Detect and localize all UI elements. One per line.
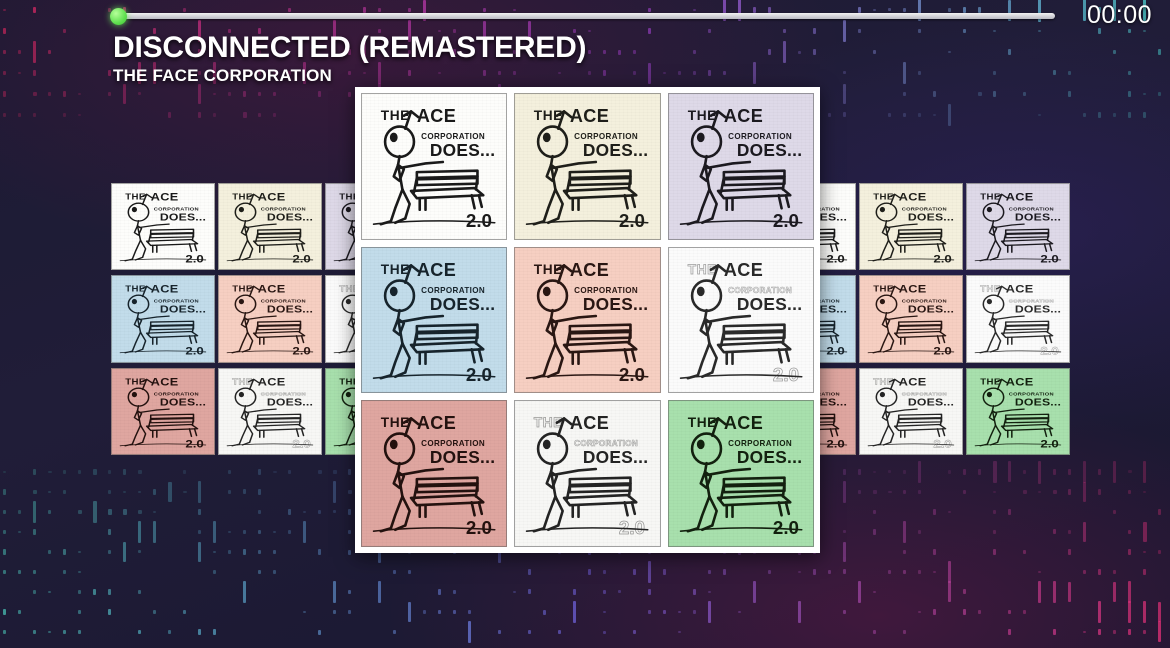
album-cover-lavender[interactable]: THE ACE CORPORATION DOES... 2.0 (668, 93, 814, 240)
album-cover-dusty-rose[interactable]: THE ACE CORPORATION DOES... 2.0 (361, 400, 507, 547)
svg-text:CORPORATION: CORPORATION (154, 391, 199, 396)
svg-text:ACE: ACE (151, 376, 179, 388)
svg-text:ACE: ACE (899, 192, 927, 204)
svg-text:DOES...: DOES... (160, 305, 206, 316)
album-cover-white[interactable]: THE ACE CORPORATION DOES... 2.0 (361, 93, 507, 240)
svg-text:DOES...: DOES... (583, 140, 649, 160)
svg-text:DOES...: DOES... (267, 305, 313, 316)
svg-text:ACE: ACE (417, 260, 456, 280)
svg-text:DOES...: DOES... (1015, 213, 1061, 224)
svg-text:DOES...: DOES... (267, 213, 313, 224)
svg-text:ACE: ACE (258, 284, 286, 296)
svg-text:CORPORATION: CORPORATION (261, 299, 306, 304)
svg-text:ACE: ACE (724, 106, 763, 126)
album-cover-cream[interactable]: THE ACE CORPORATION DOES... 2.0 (218, 183, 322, 270)
svg-text:DOES...: DOES... (160, 213, 206, 224)
album-cover-light-blue[interactable]: THE ACE CORPORATION DOES... 2.0 (111, 275, 215, 362)
svg-text:CORPORATION: CORPORATION (1009, 299, 1054, 304)
svg-text:DOES...: DOES... (583, 294, 649, 314)
svg-text:DOES...: DOES... (736, 294, 802, 314)
featured-album-panel[interactable]: THE ACE CORPORATION DOES... 2.0 (355, 87, 820, 553)
svg-text:DOES...: DOES... (430, 448, 496, 468)
song-title: DISCONNECTED (REMASTERED) (113, 30, 586, 65)
album-cover-white[interactable]: THE ACE CORPORATION DOES... 2.0 (111, 183, 215, 270)
svg-text:CORPORATION: CORPORATION (902, 391, 947, 396)
svg-text:DOES...: DOES... (430, 294, 496, 314)
album-cover-faded-white[interactable]: THE ACE CORPORATION DOES... 2.0 (966, 275, 1070, 362)
now-playing-info: DISCONNECTED (REMASTERED) THE FACE CORPO… (113, 30, 586, 86)
svg-text:ACE: ACE (724, 260, 763, 280)
svg-text:ACE: ACE (417, 106, 456, 126)
svg-text:ACE: ACE (899, 284, 927, 296)
svg-text:2.0: 2.0 (466, 364, 492, 385)
svg-text:DOES...: DOES... (430, 140, 496, 160)
progress-track[interactable] (118, 13, 1055, 19)
svg-text:CORPORATION: CORPORATION (1009, 391, 1054, 396)
svg-text:ACE: ACE (417, 414, 456, 434)
svg-text:CORPORATION: CORPORATION (154, 207, 199, 212)
album-cover-mint-green[interactable]: THE ACE CORPORATION DOES... 2.0 (668, 400, 814, 547)
album-cover-faded-white[interactable]: THE ACE CORPORATION DOES... 2.0 (668, 247, 814, 394)
svg-text:2.0: 2.0 (466, 517, 492, 538)
svg-text:2.0: 2.0 (466, 210, 492, 231)
svg-text:2.0: 2.0 (773, 210, 799, 231)
album-cover-cream[interactable]: THE ACE CORPORATION DOES... 2.0 (514, 93, 660, 240)
album-cover-salmon[interactable]: THE ACE CORPORATION DOES... 2.0 (859, 275, 963, 362)
svg-text:CORPORATION: CORPORATION (261, 391, 306, 396)
progress-knob-handle[interactable] (110, 8, 127, 25)
album-cover-salmon[interactable]: THE ACE CORPORATION DOES... 2.0 (218, 275, 322, 362)
album-cover-salmon[interactable]: THE ACE CORPORATION DOES... 2.0 (514, 247, 660, 394)
svg-text:ACE: ACE (1006, 376, 1034, 388)
elapsed-time-display: 00:00 (1087, 1, 1152, 30)
svg-text:CORPORATION: CORPORATION (902, 299, 947, 304)
svg-text:ACE: ACE (899, 376, 927, 388)
svg-text:CORPORATION: CORPORATION (1009, 207, 1054, 212)
svg-text:DOES...: DOES... (267, 397, 313, 408)
svg-text:ACE: ACE (570, 414, 609, 434)
svg-text:ACE: ACE (570, 106, 609, 126)
album-cover-light-blue[interactable]: THE ACE CORPORATION DOES... 2.0 (361, 247, 507, 394)
svg-text:ACE: ACE (258, 376, 286, 388)
svg-text:DOES...: DOES... (736, 140, 802, 160)
svg-text:CORPORATION: CORPORATION (154, 299, 199, 304)
album-cover-pale-white[interactable]: THE ACE CORPORATION DOES... 2.0 (218, 368, 322, 455)
svg-text:ACE: ACE (151, 192, 179, 204)
playback-progress-bar[interactable]: 00:00 (0, 0, 1170, 30)
song-artist: THE FACE CORPORATION (113, 66, 586, 86)
svg-text:ACE: ACE (1006, 284, 1034, 296)
music-player-screen: THE ACE CORPORATION DOES... 2.0 (0, 0, 1170, 648)
album-cover-pale-white[interactable]: THE ACE CORPORATION DOES... 2.0 (859, 368, 963, 455)
svg-text:DOES...: DOES... (908, 305, 954, 316)
svg-text:ACE: ACE (258, 192, 286, 204)
svg-text:2.0: 2.0 (619, 517, 645, 538)
svg-text:ACE: ACE (151, 284, 179, 296)
svg-text:DOES...: DOES... (583, 448, 649, 468)
svg-text:DOES...: DOES... (1015, 305, 1061, 316)
svg-text:DOES...: DOES... (908, 213, 954, 224)
svg-text:2.0: 2.0 (619, 364, 645, 385)
album-cover-mint-green[interactable]: THE ACE CORPORATION DOES... 2.0 (966, 368, 1070, 455)
svg-text:CORPORATION: CORPORATION (902, 207, 947, 212)
svg-text:DOES...: DOES... (160, 397, 206, 408)
album-cover-lavender[interactable]: THE ACE CORPORATION DOES... 2.0 (966, 183, 1070, 270)
svg-text:2.0: 2.0 (619, 210, 645, 231)
album-cover-dusty-rose[interactable]: THE ACE CORPORATION DOES... 2.0 (111, 368, 215, 455)
svg-text:DOES...: DOES... (1015, 397, 1061, 408)
svg-text:ACE: ACE (724, 414, 763, 434)
album-cover-cream[interactable]: THE ACE CORPORATION DOES... 2.0 (859, 183, 963, 270)
svg-text:2.0: 2.0 (773, 517, 799, 538)
svg-text:ACE: ACE (1006, 192, 1034, 204)
svg-text:DOES...: DOES... (908, 397, 954, 408)
svg-text:2.0: 2.0 (773, 364, 799, 385)
svg-text:CORPORATION: CORPORATION (261, 207, 306, 212)
svg-text:DOES...: DOES... (736, 448, 802, 468)
svg-text:ACE: ACE (570, 260, 609, 280)
featured-album-grid: THE ACE CORPORATION DOES... 2.0 (361, 93, 814, 547)
album-cover-pale-white[interactable]: THE ACE CORPORATION DOES... 2.0 (514, 400, 660, 547)
